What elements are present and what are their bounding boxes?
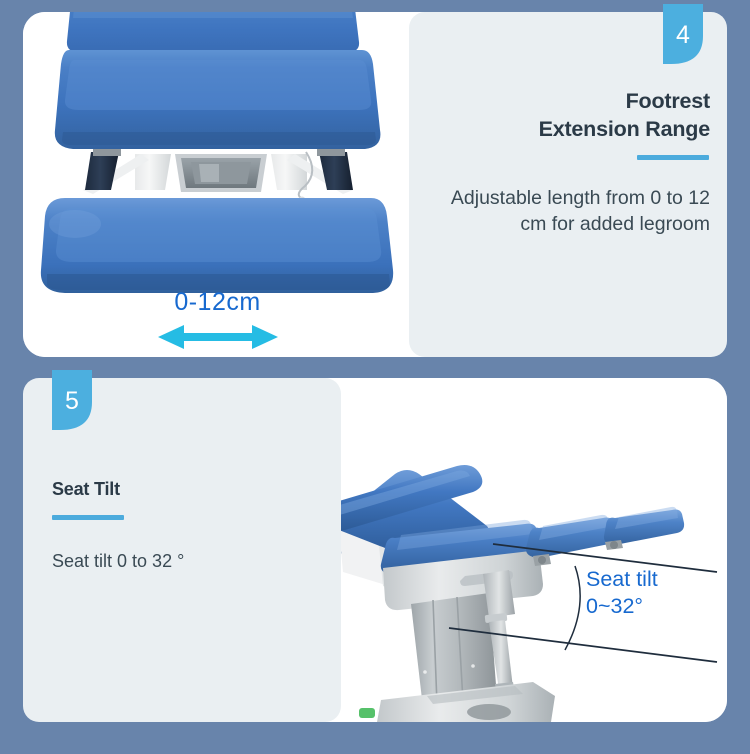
card-4-body: Adjustable length from 0 to 12 cm for ad… [445, 186, 710, 238]
card-4-title-line2: Extension Range [539, 117, 710, 141]
badge-number-label: 4 [676, 21, 690, 49]
card-4-title: Footrest Extension Range [445, 88, 710, 143]
card-4-title-underline [637, 155, 709, 160]
seat-tilt-illustration [337, 378, 727, 722]
badge-number-5: 5 [52, 370, 92, 430]
card-5-title-underline [52, 515, 124, 520]
footrest-range-annotation: 0-12cm [150, 288, 285, 317]
info-card-5-text: Seat Tilt Seat tilt 0 to 32 ° [52, 478, 302, 574]
seat-tilt-annotation: Seat tilt 0~32° [586, 566, 658, 619]
product-feature-sheet: 0-12cm 4 Footrest Extension Range Adjust… [0, 0, 750, 754]
seat-tilt-annotation-line2: 0~32° [586, 593, 658, 620]
badge-number-label: 5 [65, 387, 79, 415]
card-4-title-line1: Footrest [626, 89, 710, 113]
chair-seat-tilt-side-view-photo [337, 378, 727, 722]
card-5-title: Seat Tilt [52, 478, 302, 501]
card-5-body: Seat tilt 0 to 32 ° [52, 550, 302, 574]
badge-number-4: 4 [663, 4, 703, 64]
seat-tilt-annotation-line1: Seat tilt [586, 566, 658, 593]
double-headed-horizontal-arrow-icon [158, 322, 278, 357]
info-card-4-text: Footrest Extension Range Adjustable leng… [445, 88, 710, 238]
